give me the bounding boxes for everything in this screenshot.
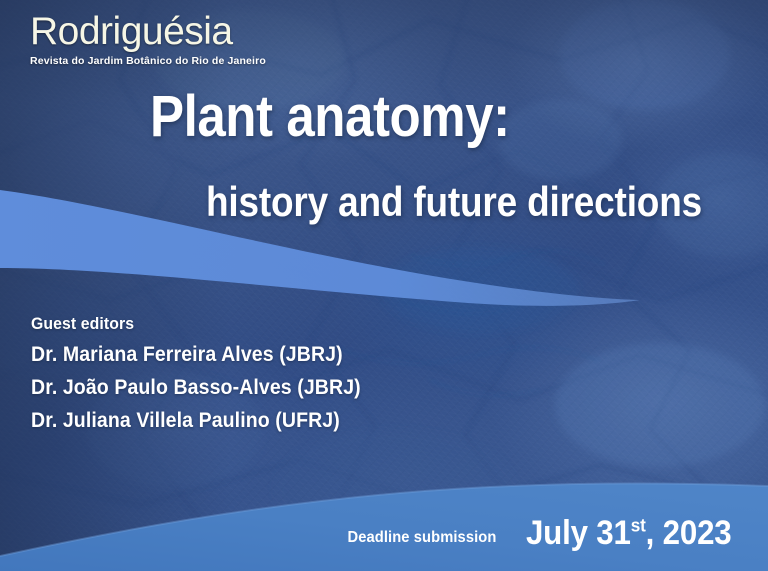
- guest-editor-name: Dr. João Paulo Basso-Alves (JBRJ): [31, 376, 361, 400]
- deadline-block: Deadline submission July 31st, 2023: [341, 514, 740, 553]
- guest-editors-block: Guest editors Dr. Mariana Ferreira Alves…: [31, 314, 386, 433]
- guest-editor-name: Dr. Mariana Ferreira Alves (JBRJ): [31, 343, 361, 367]
- guest-editors-label: Guest editors: [31, 314, 361, 334]
- deadline-ordinal-suffix: st: [630, 515, 645, 536]
- journal-tagline: Revista do Jardim Botânico do Rio de Jan…: [30, 56, 266, 67]
- journal-wordmark: Rodriguésia: [30, 12, 266, 51]
- journal-logo: Rodriguésia Revista do Jardim Botânico d…: [30, 12, 266, 67]
- headline-secondary: history and future directions: [206, 181, 702, 223]
- deadline-label: Deadline submission: [347, 529, 496, 547]
- poster-canvas: Rodriguésia Revista do Jardim Botânico d…: [0, 0, 768, 571]
- headline-primary: Plant anatomy:: [150, 88, 510, 146]
- guest-editor-name: Dr. Juliana Villela Paulino (UFRJ): [31, 409, 361, 433]
- deadline-year: , 2023: [645, 514, 731, 552]
- deadline-date: July 31st, 2023: [525, 514, 731, 553]
- deadline-month-day: July 31: [525, 514, 630, 552]
